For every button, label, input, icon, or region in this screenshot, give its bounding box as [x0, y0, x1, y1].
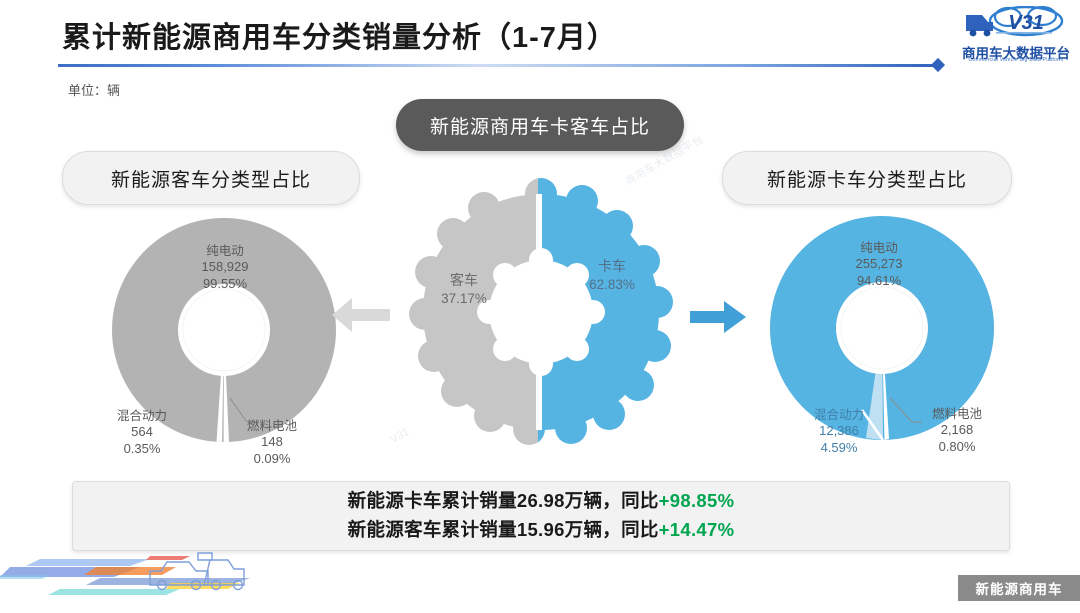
bus-label-hybrid: 混合动力 564 0.35% [102, 408, 182, 457]
truck-cloud-logo-icon: V31 [960, 6, 1072, 42]
bus-donut-chart: 纯电动 158,929 99.55% 混合动力 564 0.35% 燃料电池 1… [104, 215, 344, 470]
center-label-bus: 客车 37.17% [424, 272, 504, 307]
arrow-right-icon [690, 300, 748, 339]
header-divider [58, 64, 938, 67]
footer-tag-label: 新能源商用车 [976, 578, 1063, 598]
truck-label-fuel-cell: 燃料电池 2,168 0.80% [916, 406, 998, 455]
footer-truck-graphic [0, 545, 360, 608]
truck-label-pure-electric: 纯电动 255,273 94.61% [832, 240, 926, 289]
panel-title-truck: 新能源卡车分类型占比 [722, 151, 1012, 205]
panel-title-center: 新能源商用车卡客车占比 [396, 99, 684, 151]
brand-logo: V31 商用车大数据平台 Commercial Vehicle Big Data… [960, 6, 1072, 68]
center-label-truck: 卡车 62.83% [572, 258, 652, 293]
truck-donut-chart: 纯电动 255,273 94.61% 混合动力 12,386 4.59% 燃料电… [762, 210, 1012, 470]
arrow-left-icon [330, 296, 392, 339]
footer-tag: 新能源商用车 [958, 575, 1080, 601]
center-gear-chart: 客车 37.17% 卡车 62.83% [396, 160, 686, 470]
summary-truck-growth: +98.85% [659, 490, 735, 511]
logo-name-en: Commercial Vehicle Big Data Platform [960, 57, 1072, 63]
page-title: 累计新能源商用车分类销量分析（1-7月） [62, 14, 617, 56]
summary-bus-growth: +14.47% [659, 519, 735, 540]
summary-box: 新能源卡车累计销量26.98万辆，同比+98.85% 新能源客车累计销量15.9… [72, 481, 1010, 551]
summary-line-bus: 新能源客车累计销量15.96万辆，同比+14.47% [348, 516, 735, 545]
summary-line-truck: 新能源卡车累计销量26.98万辆，同比+98.85% [348, 487, 735, 516]
bus-label-pure-electric: 纯电动 158,929 99.55% [180, 243, 270, 292]
truck-label-hybrid: 混合动力 12,386 4.59% [798, 407, 880, 456]
bus-label-fuel-cell: 燃料电池 148 0.09% [232, 418, 312, 467]
panel-title-center-label: 新能源商用车卡客车占比 [430, 112, 650, 139]
panel-title-truck-label: 新能源卡车分类型占比 [767, 165, 967, 192]
panel-title-bus: 新能源客车分类型占比 [62, 151, 360, 205]
panel-title-bus-label: 新能源客车分类型占比 [111, 165, 311, 192]
header-divider-marker [931, 58, 945, 72]
svg-text:V31: V31 [1008, 12, 1044, 34]
unit-label: 单位：辆 [68, 80, 120, 99]
